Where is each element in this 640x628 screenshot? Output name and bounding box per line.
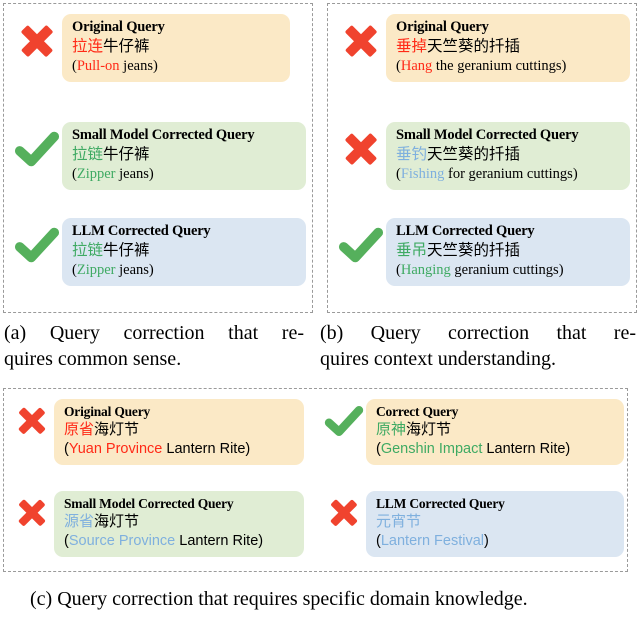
rest-term-en: for geranium cuttings) — [444, 166, 577, 182]
box-title: Small Model Corrected Query — [396, 126, 620, 145]
cross-icon — [338, 18, 384, 64]
subfigure-b-caption: (b) Query correction that re- quires con… — [320, 320, 636, 373]
query-box-llm: LLM Corrected Query 元宵节 (Lantern Festiva… — [366, 491, 624, 557]
highlight-term-en: Genshin Impact — [381, 441, 483, 457]
highlight-term-cn: 垂掉 — [396, 38, 427, 55]
box-english-line: (Hang the geranium cuttings) — [396, 57, 620, 76]
row-original-query-c: Original Query 原省海灯节 (Yuan Province Lant… — [12, 399, 312, 465]
box-chinese-line: 原省海灯节 — [64, 420, 294, 440]
box-title: Original Query — [396, 18, 620, 37]
rest-term-en: jeans) — [120, 58, 158, 74]
subfigure-c-caption: (c) Query correction that requires speci… — [30, 586, 630, 612]
query-box-small-model: Small Model Corrected Query 垂钓天竺葵的扦插 (Fi… — [386, 122, 630, 190]
cross-icon — [12, 401, 52, 441]
highlight-term-cn: 原省 — [64, 421, 94, 438]
row-llm-query-a: LLM Corrected Query 拉链牛仔裤 (Zipper jeans) — [14, 218, 306, 286]
rest-term-cn: 海灯节 — [94, 421, 139, 438]
rest-term-cn: 牛仔裤 — [103, 146, 150, 163]
highlight-term-en: Hang — [401, 58, 432, 74]
row-original-query-b: Original Query 垂掉天竺葵的扦插 (Hang the gerani… — [338, 14, 630, 82]
row-small-model-query-b: Small Model Corrected Query 垂钓天竺葵的扦插 (Fi… — [338, 122, 630, 190]
query-box-original: Original Query 垂掉天竺葵的扦插 (Hang the gerani… — [386, 14, 630, 82]
subfigure-a-panel: Original Query 拉连牛仔裤 (Pull-on jeans) Sma… — [3, 3, 313, 313]
highlight-term-cn: 垂钓 — [396, 146, 427, 163]
box-chinese-line: 拉链牛仔裤 — [72, 145, 296, 165]
subfigure-a-caption: (a) Query correction that re- quires com… — [4, 320, 304, 373]
cross-icon — [324, 493, 364, 533]
query-box-llm: LLM Corrected Query 拉链牛仔裤 (Zipper jeans) — [62, 218, 306, 286]
rest-term-cn: 天竺葵的扦插 — [427, 38, 520, 55]
cross-icon — [12, 493, 52, 533]
rest-term-cn: 天竺葵的扦插 — [427, 146, 520, 163]
rest-term-en: Lantern Rite) — [175, 533, 263, 549]
caption-line-2: quires context understanding. — [320, 348, 556, 370]
subfigure-c-panel: Original Query 原省海灯节 (Yuan Province Lant… — [3, 388, 628, 572]
rest-term-en: geranium cuttings) — [451, 262, 564, 278]
box-english-line: (Genshin Impact Lantern Rite) — [376, 440, 614, 459]
row-small-model-query-c: Small Model Corrected Query 源省海灯节 (Sourc… — [12, 491, 312, 557]
row-llm-query-c: LLM Corrected Query 元宵节 (Lantern Festiva… — [324, 491, 624, 557]
check-icon — [338, 222, 384, 268]
box-title: Small Model Corrected Query — [72, 126, 296, 145]
box-english-line: (Hanging geranium cuttings) — [396, 261, 620, 280]
query-box-correct: Correct Query 原神海灯节 (Genshin Impact Lant… — [366, 399, 624, 465]
rest-term-cn: 牛仔裤 — [103, 38, 150, 55]
box-title: LLM Corrected Query — [72, 222, 296, 241]
rest-term-cn: 海灯节 — [406, 421, 451, 438]
box-chinese-line: 元宵节 — [376, 512, 614, 532]
box-title: LLM Corrected Query — [376, 495, 614, 512]
box-english-line: (Pull-on jeans) — [72, 57, 280, 76]
box-chinese-line: 原神海灯节 — [376, 420, 614, 440]
box-title: LLM Corrected Query — [396, 222, 620, 241]
box-english-line: (Source Province Lantern Rite) — [64, 532, 294, 551]
highlight-term-cn: 拉链 — [72, 146, 103, 163]
box-english-line: (Zipper jeans) — [72, 261, 296, 280]
highlight-term-cn: 源省 — [64, 513, 94, 530]
highlight-term-en: Zipper — [77, 166, 116, 182]
check-icon — [324, 401, 364, 441]
box-chinese-line: 垂钓天竺葵的扦插 — [396, 145, 620, 165]
box-title: Small Model Corrected Query — [64, 495, 294, 512]
highlight-term-cn: 垂吊 — [396, 242, 427, 259]
box-english-line: (Zipper jeans) — [72, 165, 296, 184]
caption-line-2: quires common sense. — [4, 348, 181, 370]
highlight-term-cn: 原神 — [376, 421, 406, 438]
box-chinese-line: 垂吊天竺葵的扦插 — [396, 241, 620, 261]
rest-term-en: Lantern Rite) — [162, 441, 250, 457]
query-box-original: Original Query 原省海灯节 (Yuan Province Lant… — [54, 399, 304, 465]
highlight-term-en: Zipper — [77, 262, 116, 278]
box-title: Correct Query — [376, 403, 614, 420]
highlight-term-cn: 拉连 — [72, 38, 103, 55]
highlight-term-en: Hanging — [401, 262, 451, 278]
highlight-term-en: Pull-on — [77, 58, 120, 74]
box-title: Original Query — [64, 403, 294, 420]
rest-term-en: jeans) — [116, 262, 154, 278]
box-chinese-line: 源省海灯节 — [64, 512, 294, 532]
highlight-term-en: Lantern Festival — [381, 533, 484, 549]
box-english-line: (Fishing for geranium cuttings) — [396, 165, 620, 184]
rest-term-cn: 天竺葵的扦插 — [427, 242, 520, 259]
rest-term-cn: 牛仔裤 — [103, 242, 150, 259]
check-icon — [14, 222, 60, 268]
rest-term-en: ) — [484, 533, 489, 549]
row-llm-query-b: LLM Corrected Query 垂吊天竺葵的扦插 (Hanging ge… — [338, 218, 630, 286]
box-chinese-line: 拉连牛仔裤 — [72, 37, 280, 57]
caption-line-1: (b) Query correction that re- — [320, 320, 636, 346]
query-box-small-model: Small Model Corrected Query 拉链牛仔裤 (Zippe… — [62, 122, 306, 190]
box-title: Original Query — [72, 18, 280, 37]
rest-term-en: Lantern Rite) — [482, 441, 570, 457]
subfigure-b-panel: Original Query 垂掉天竺葵的扦插 (Hang the gerani… — [327, 3, 637, 313]
query-box-small-model: Small Model Corrected Query 源省海灯节 (Sourc… — [54, 491, 304, 557]
rest-term-cn: 海灯节 — [94, 513, 139, 530]
highlight-term-cn: 元宵节 — [376, 513, 421, 530]
highlight-term-cn: 拉链 — [72, 242, 103, 259]
rest-term-en: the geranium cuttings) — [432, 58, 566, 74]
highlight-term-en: Source Province — [69, 533, 175, 549]
row-original-query-a: Original Query 拉连牛仔裤 (Pull-on jeans) — [14, 14, 306, 82]
box-chinese-line: 拉链牛仔裤 — [72, 241, 296, 261]
query-box-llm: LLM Corrected Query 垂吊天竺葵的扦插 (Hanging ge… — [386, 218, 630, 286]
rest-term-en: jeans) — [116, 166, 154, 182]
row-correct-query-c: Correct Query 原神海灯节 (Genshin Impact Lant… — [324, 399, 624, 465]
row-small-model-query-a: Small Model Corrected Query 拉链牛仔裤 (Zippe… — [14, 122, 306, 190]
query-box-original: Original Query 拉连牛仔裤 (Pull-on jeans) — [62, 14, 290, 82]
highlight-term-en: Yuan Province — [69, 441, 163, 457]
box-chinese-line: 垂掉天竺葵的扦插 — [396, 37, 620, 57]
box-english-line: (Lantern Festival) — [376, 532, 614, 551]
box-english-line: (Yuan Province Lantern Rite) — [64, 440, 294, 459]
caption-line-1: (a) Query correction that re- — [4, 320, 304, 346]
highlight-term-en: Fishing — [401, 166, 445, 182]
cross-icon — [14, 18, 60, 64]
cross-icon — [338, 126, 384, 172]
check-icon — [14, 126, 60, 172]
figure-root: Original Query 拉连牛仔裤 (Pull-on jeans) Sma… — [0, 0, 640, 628]
